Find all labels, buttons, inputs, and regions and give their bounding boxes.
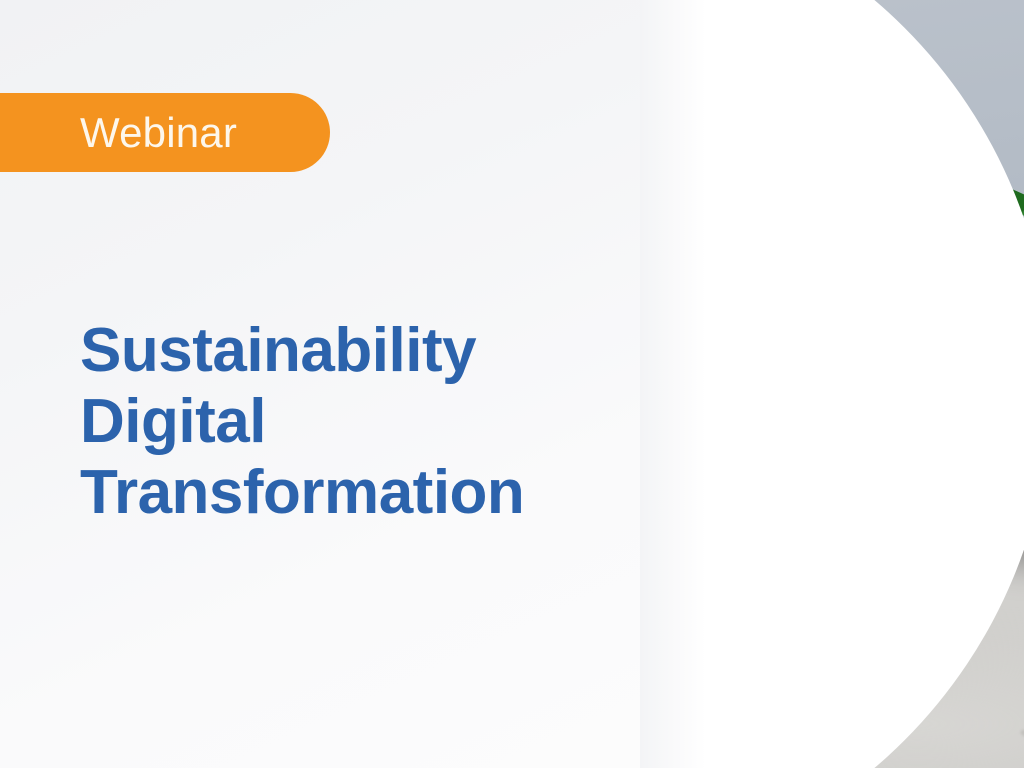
panel-left-fade bbox=[640, 0, 706, 768]
page-title-line-2: Digital bbox=[80, 386, 610, 457]
page-title-line-1: Sustainability bbox=[80, 315, 610, 386]
hero-photo-panel bbox=[640, 0, 1024, 768]
webinar-badge-label: Webinar bbox=[80, 112, 237, 154]
page-title: Sustainability Digital Transformation bbox=[80, 315, 610, 528]
webinar-promo-banner: Webinar Sustainability Digital Transform… bbox=[0, 0, 1024, 768]
page-title-line-3: Transformation bbox=[80, 457, 610, 528]
webinar-badge: Webinar bbox=[0, 93, 330, 172]
